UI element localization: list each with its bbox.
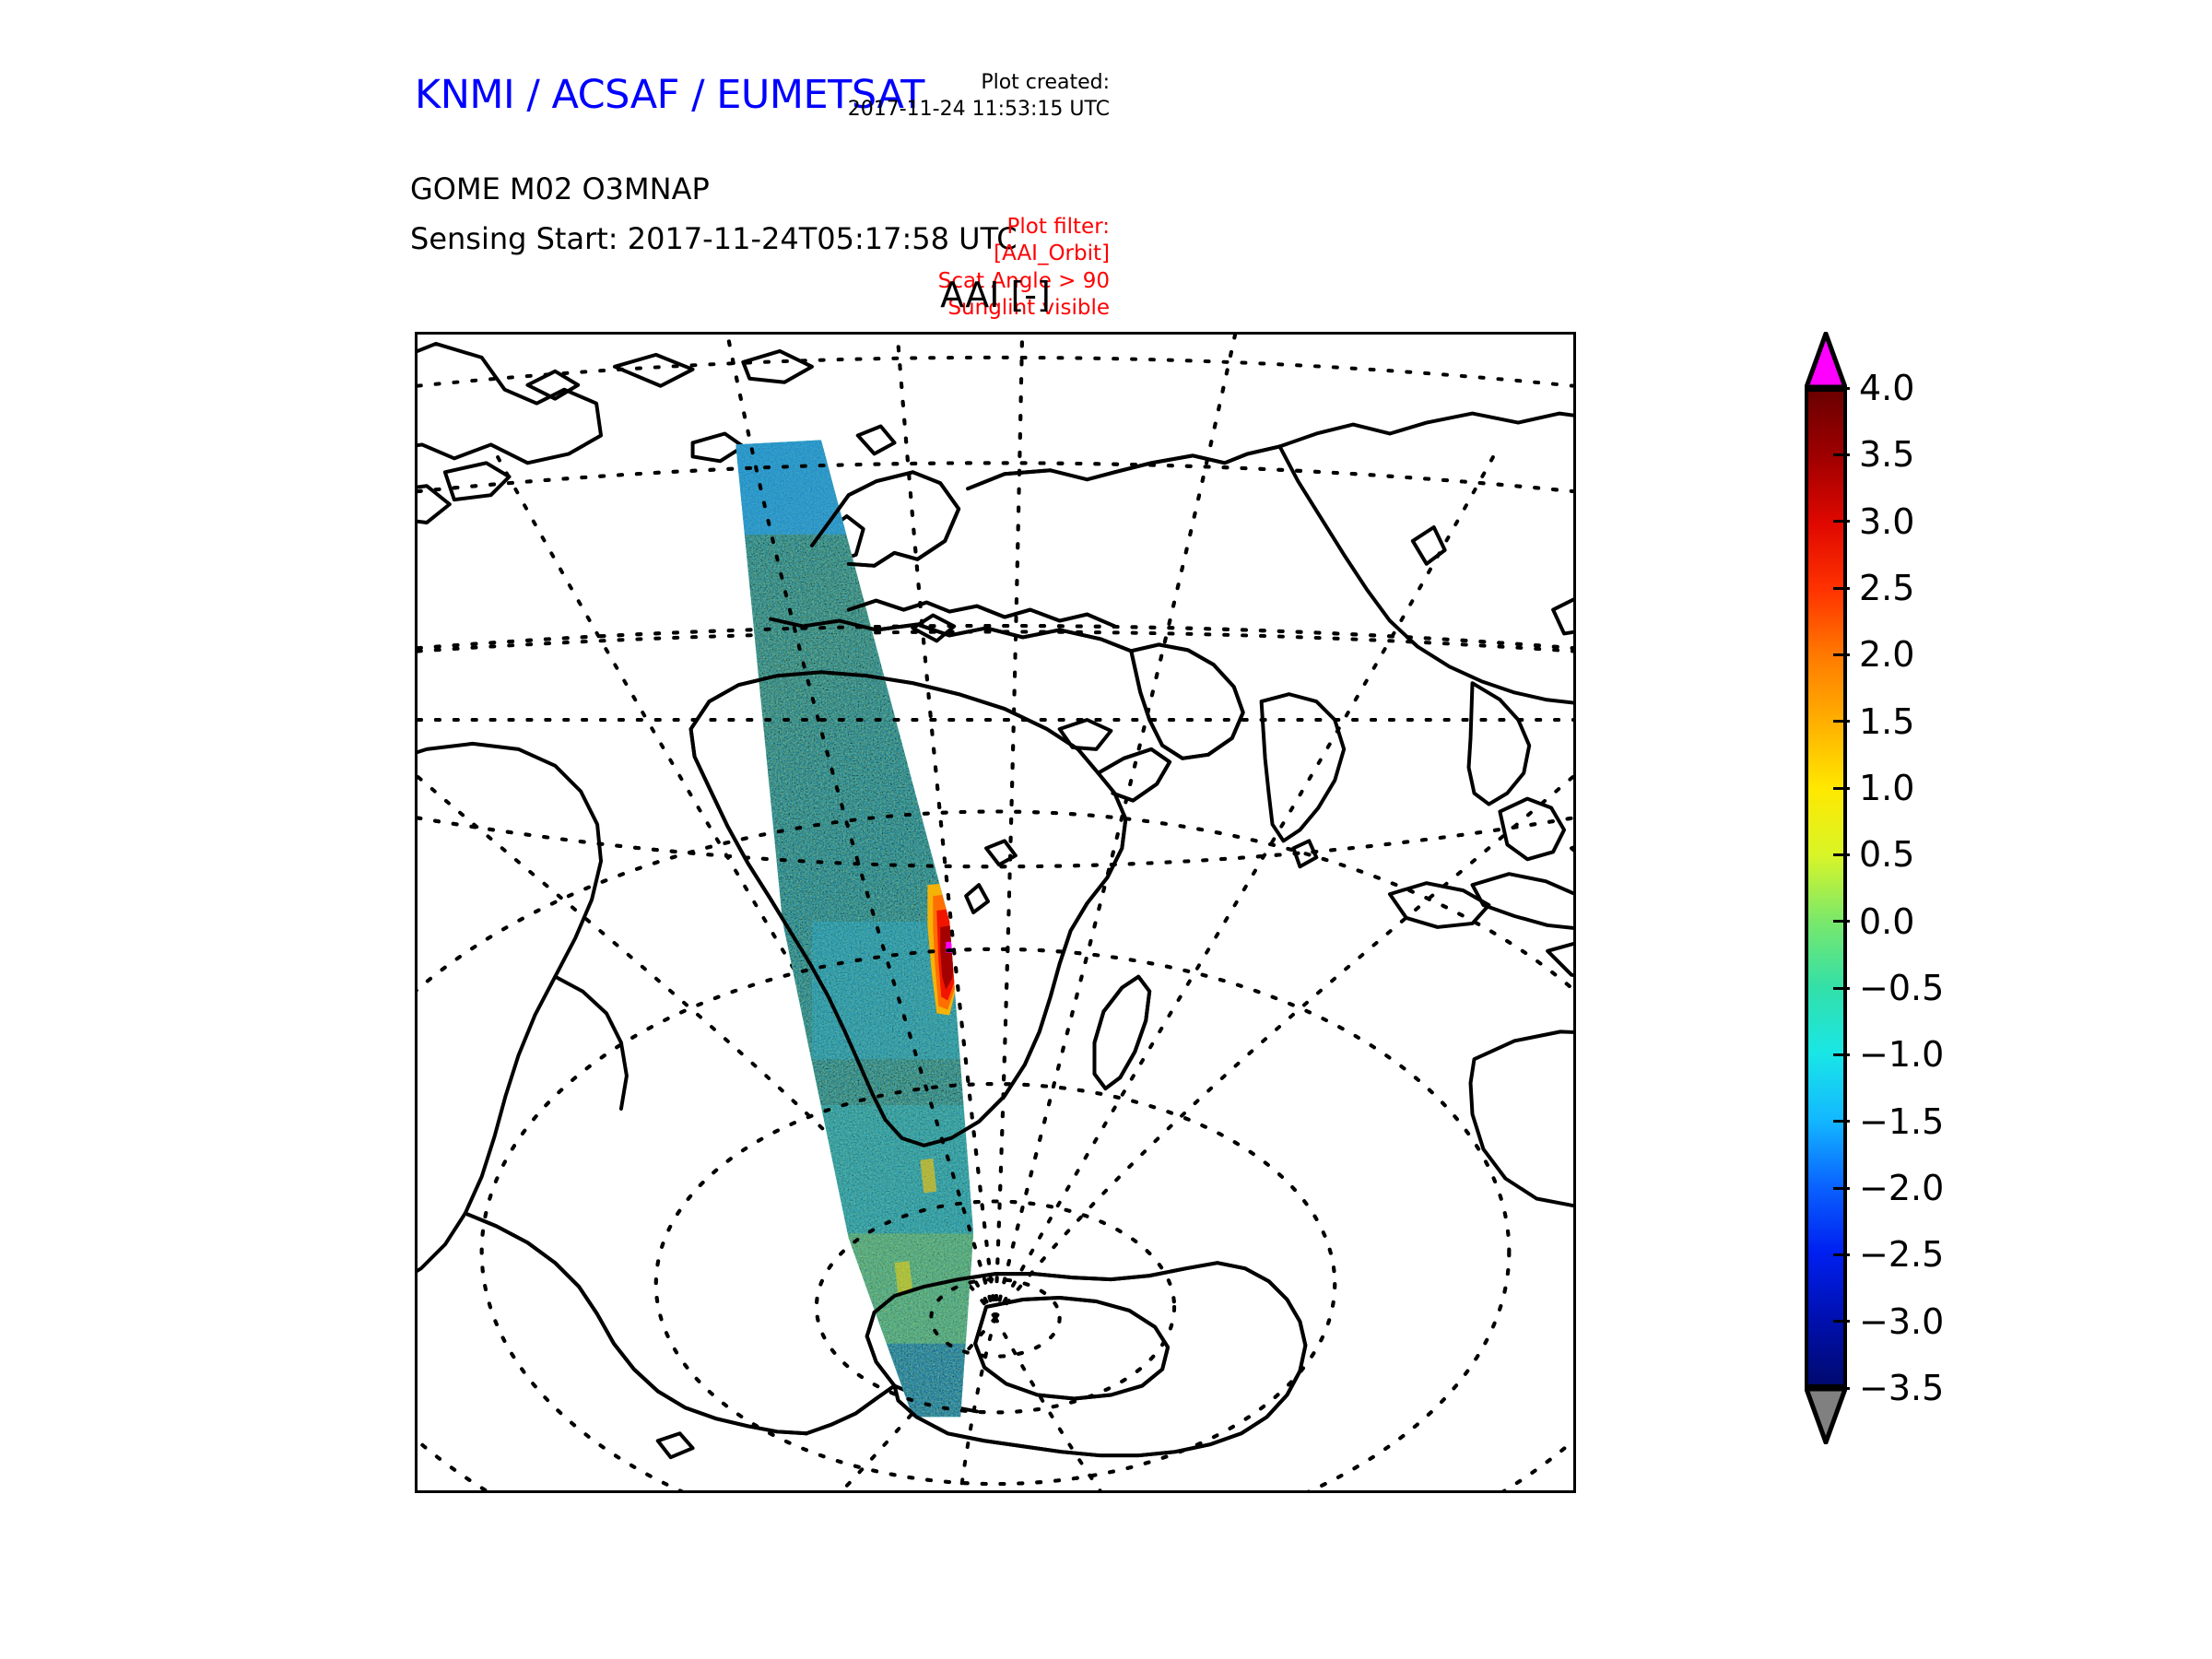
plot-filter-line-1: Plot filter: [649,214,1110,241]
colorbar-gradient [1805,388,1847,1388]
colorbar-tick [1833,920,1850,923]
page-title: AAI [-] [415,275,1576,315]
coastlines [418,344,1573,1457]
colorbar-tick-label: 2.5 [1859,568,1914,608]
aai-swath [720,427,1005,1445]
colorbar-tick [1833,453,1850,456]
colorbar-tick [1833,1187,1850,1190]
colorbar-tick-label: 3.0 [1859,501,1914,542]
colorbar-tick-label: 4.0 [1859,368,1914,408]
colorbar-tick [1833,387,1850,390]
colorbar-tick [1833,853,1850,856]
colorbar-under-arrow [1805,1387,1847,1444]
colorbar-tick-label: 0.5 [1859,834,1914,875]
colorbar-tick [1833,587,1850,590]
colorbar-tick-label: −0.5 [1859,968,1944,1008]
plot-filter-line-2: [AAI_Orbit] [649,241,1110,267]
product-name: GOME M02 O3MNAP [410,171,710,206]
colorbar-tick-label: 1.0 [1859,768,1914,808]
colorbar-tick [1833,1387,1850,1390]
colorbar-tick [1833,653,1850,656]
graticule-overlay [418,335,1573,1490]
colorbar-tick [1833,720,1850,723]
colorbar-tick [1833,1253,1850,1256]
colorbar-tick-label: 1.5 [1859,701,1914,742]
colorbar-over-arrow [1805,332,1847,389]
colorbar-tick [1833,1053,1850,1056]
colorbar-tick-label: −3.0 [1859,1301,1944,1342]
plot-created-value: 2017-11-24 11:53:15 UTC [686,97,1110,124]
colorbar-tick [1833,520,1850,523]
colorbar-tick [1833,987,1850,990]
plot-created-label: Plot created: [686,70,1110,97]
plot-created-block: Plot created: 2017-11-24 11:53:15 UTC [686,70,1110,123]
colorbar-tick-label: −1.5 [1859,1101,1944,1142]
colorbar-tick-label: 3.5 [1859,434,1914,475]
colorbar-tick [1833,787,1850,790]
colorbar-tick-label: 0.0 [1859,901,1914,942]
colorbar-tick [1833,1120,1850,1123]
colorbar: 4.03.53.02.52.01.51.00.50.0−0.5−1.0−1.5−… [1802,332,2189,1530]
colorbar-tick-label: 2.0 [1859,634,1914,675]
colorbar-tick-label: −3.5 [1859,1368,1944,1408]
map-plot-area [415,332,1576,1493]
colorbar-tick [1833,1320,1850,1323]
colorbar-tick-label: −2.5 [1859,1234,1944,1275]
map-canvas [418,335,1573,1490]
colorbar-tick-label: −1.0 [1859,1034,1944,1075]
colorbar-tick-label: −2.0 [1859,1168,1944,1208]
